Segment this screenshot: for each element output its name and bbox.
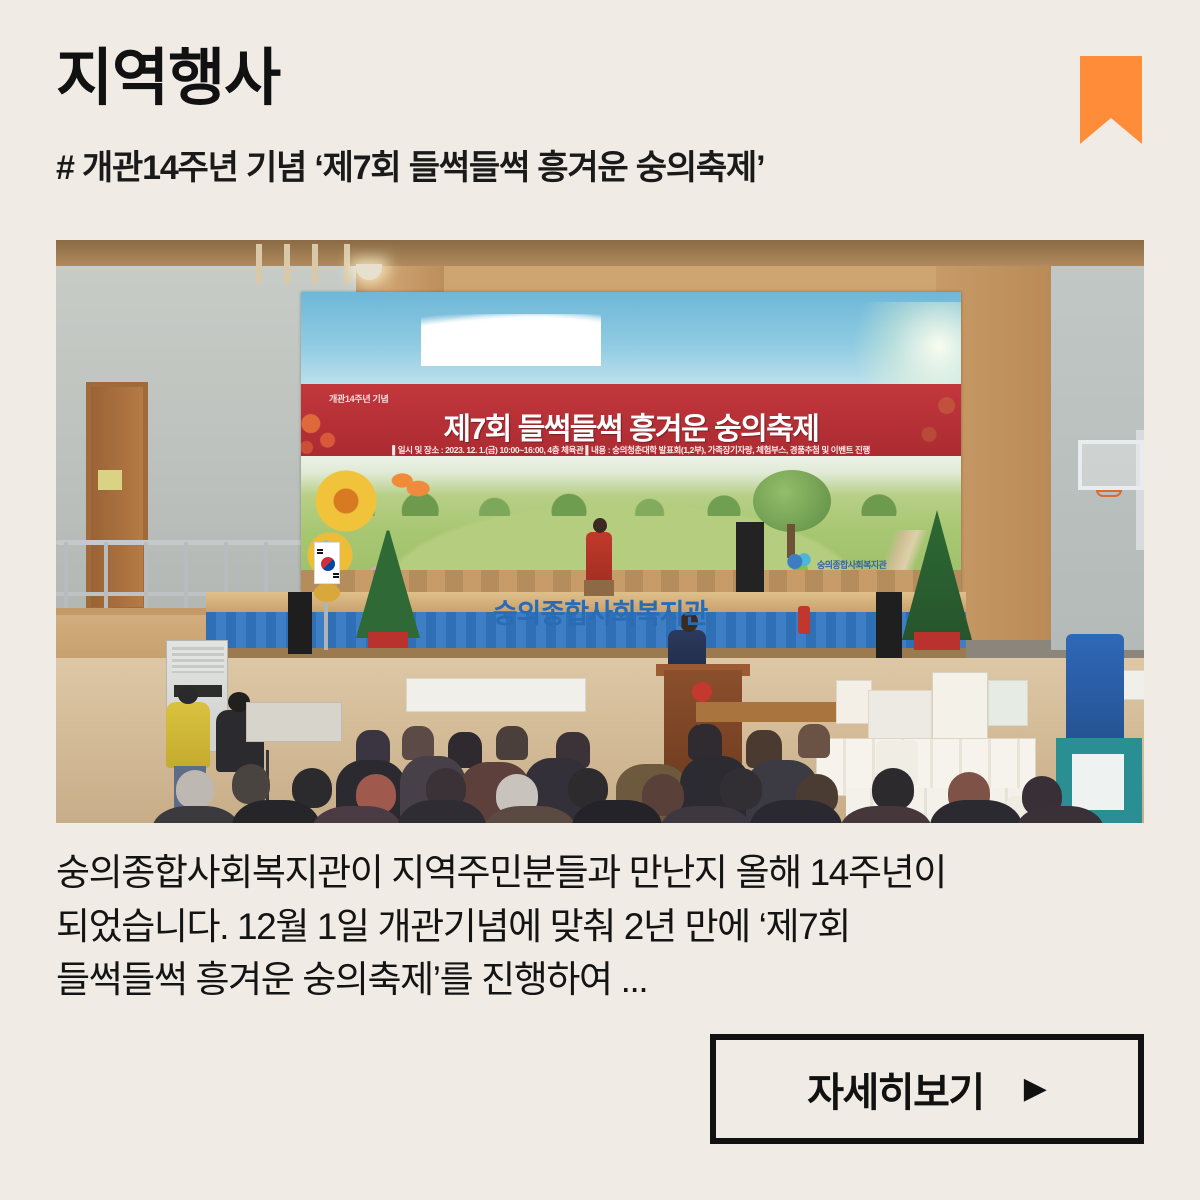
- excerpt-line-2: 되었습니다. 12월 1일 개관기념에 맞춰 2년 만에 ‘제7회: [56, 900, 1148, 954]
- sound-desk: [246, 702, 342, 742]
- tree-pot: [368, 632, 408, 648]
- banner-title: 제7회 들썩들썩 흥겨운 숭의축제: [301, 404, 961, 448]
- view-detail-button[interactable]: 자세히보기 ▶: [710, 1034, 1144, 1144]
- photo-watermark: 숭의종합사회복지관: [56, 592, 1144, 631]
- flag-trigram: [333, 576, 339, 578]
- event-photo: 개관14주년 기념 제7회 들썩들썩 흥겨운 숭의축제 ▌일시 및 장소 : 2…: [56, 240, 1144, 823]
- prize-box: [836, 680, 872, 724]
- flag-trigram: [333, 573, 339, 575]
- article-excerpt: 숭의종합사회복지관이 지역주민분들과 만난지 올해 14주년이 되었습니다. 1…: [56, 846, 1148, 1007]
- arrow-right-icon: ▶: [1024, 1074, 1047, 1104]
- banner-details: ▌일시 및 장소 : 2023. 12. 1.(금) 10:00~16:00, …: [301, 444, 961, 456]
- ceiling-beam: [344, 244, 350, 284]
- prize-box: [988, 680, 1028, 726]
- podium-emblem-icon: [692, 682, 712, 702]
- ceiling-beam: [256, 244, 262, 284]
- audience-head: [402, 726, 434, 760]
- photographer-jacket: [166, 702, 210, 768]
- tree-pot: [914, 632, 960, 650]
- banner-cloud: [421, 314, 601, 366]
- photo-watermark-text: 숭의종합사회복지관: [493, 599, 708, 629]
- audience-head: [176, 770, 214, 808]
- door-sign: [98, 470, 122, 490]
- audience-head: [496, 726, 528, 760]
- audience-head: [720, 768, 762, 810]
- front-table: [406, 678, 586, 712]
- card-header: 지역행사 # 개관14주년 기념 ‘제7회 들썩들썩 흥겨운 숭의축제’: [0, 0, 1200, 240]
- pa-speaker: [736, 522, 764, 592]
- ac-grill: [172, 647, 224, 673]
- prize-box: [932, 672, 988, 746]
- page-title: 지역행사: [56, 48, 280, 110]
- ceiling-beam: [284, 244, 290, 284]
- audience-head: [232, 764, 270, 804]
- photographer-head: [178, 686, 198, 704]
- ceiling-beam: [312, 244, 318, 284]
- page-subtitle: # 개관14주년 기념 ‘제7회 들썩들썩 흥겨운 숭의축제’: [56, 148, 764, 189]
- bookmark-icon: [1080, 56, 1142, 144]
- flag-trigram: [317, 552, 323, 554]
- standee-card: [1072, 754, 1124, 810]
- audience-head: [688, 724, 722, 760]
- stage-presenter-body: [586, 532, 612, 584]
- stage-banner: 개관14주년 기념 제7회 들썩들썩 흥겨운 숭의축제 ▌일시 및 장소 : 2…: [301, 292, 961, 592]
- basketball-backboard: [1078, 440, 1144, 490]
- excerpt-line-1: 숭의종합사회복지관이 지역주민분들과 만난지 올해 14주년이: [56, 846, 1148, 900]
- view-detail-button-label: 자세히보기: [807, 1060, 984, 1118]
- audience-head: [798, 724, 830, 758]
- hall-ceiling: [56, 240, 1144, 266]
- banner-sunflower: [309, 464, 383, 538]
- korean-flag-icon: [314, 542, 340, 584]
- excerpt-line-3: 들썩들썩 흥겨운 숭의축제’를 진행하여 ...: [56, 953, 1148, 1007]
- flag-trigram: [317, 549, 323, 551]
- gym-wall-pad: [1066, 634, 1124, 752]
- audience-head: [872, 768, 914, 810]
- side-door: [86, 382, 148, 612]
- banner-tree: [753, 470, 831, 532]
- banner-butterfly: [391, 470, 431, 500]
- stage-presenter-head: [593, 518, 607, 533]
- basketball-ring-icon: [1096, 490, 1122, 497]
- taegeuk-icon: [321, 557, 335, 571]
